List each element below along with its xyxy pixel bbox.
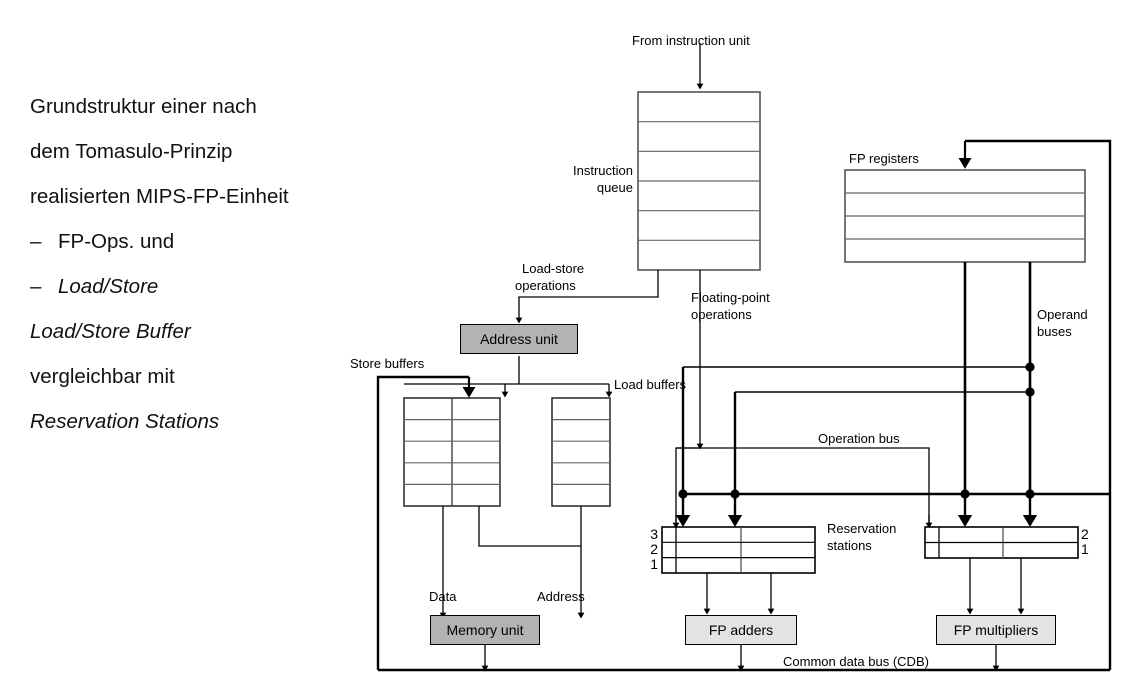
rs-right-row-number-2: 2	[1081, 527, 1099, 542]
memory-unit-label: Memory unit	[446, 622, 523, 638]
rs-left-row-number-1: 1	[640, 557, 658, 572]
fp-adders-box[interactable]: FP adders	[685, 615, 797, 645]
memory-unit-box[interactable]: Memory unit	[430, 615, 540, 645]
junction-dot-bus-2	[730, 489, 739, 498]
from-instruction-unit-label: From instruction unit	[632, 33, 750, 50]
reservation-stations-left-box	[662, 527, 815, 573]
rs-left-row-number-3: 3	[640, 527, 658, 542]
reservation-stations-label-line1: Reservation	[827, 521, 896, 538]
tomasulo-architecture-diagram: Address unit Memory unit FP adders FP mu…	[0, 0, 1129, 682]
junction-dot-operand-upper	[1025, 362, 1034, 371]
load-store-operations-label-line1: Load-store	[522, 261, 584, 278]
instruction-queue-label-line2: queue	[565, 180, 633, 197]
junction-dot-operand-lower	[1025, 387, 1034, 396]
address-label: Address	[537, 589, 585, 606]
rs-right-row-number-1: 1	[1081, 542, 1099, 557]
common-data-bus-label: Common data bus (CDB)	[783, 654, 929, 671]
operation-bus-right-branch	[676, 448, 929, 525]
operand-buses-label-line2: buses	[1037, 324, 1072, 341]
slide-canvas: Grundstruktur einer nach dem Tomasulo-Pr…	[0, 0, 1129, 682]
floating-point-operations-label-line1: Floating-point	[691, 290, 770, 307]
operation-bus-label: Operation bus	[818, 431, 900, 448]
store-buffer-address-merge	[479, 506, 581, 546]
reservation-stations-label-line2: stations	[827, 538, 872, 555]
address-unit-label: Address unit	[480, 331, 558, 347]
fp-multipliers-label: FP multipliers	[954, 622, 1039, 638]
operation-bus-left-branch	[676, 448, 700, 525]
fp-multipliers-box[interactable]: FP multipliers	[936, 615, 1056, 645]
rs-left-row-number-2: 2	[640, 542, 658, 557]
fp-adders-label: FP adders	[709, 622, 773, 638]
operand-buses-label-line1: Operand	[1037, 307, 1088, 324]
load-buffers-label: Load buffers	[614, 377, 686, 394]
floating-point-operations-label-line2: operations	[691, 307, 752, 324]
load-buffers-box	[552, 398, 610, 506]
address-unit-box[interactable]: Address unit	[460, 324, 578, 354]
load-store-operations-label-line2: operations	[515, 278, 576, 295]
fp-registers-label: FP registers	[849, 151, 919, 168]
instruction-queue-label-line1: Instruction	[565, 163, 633, 180]
data-label: Data	[429, 589, 456, 606]
store-buffers-label: Store buffers	[350, 356, 424, 373]
junction-dot-bus-1	[678, 489, 687, 498]
